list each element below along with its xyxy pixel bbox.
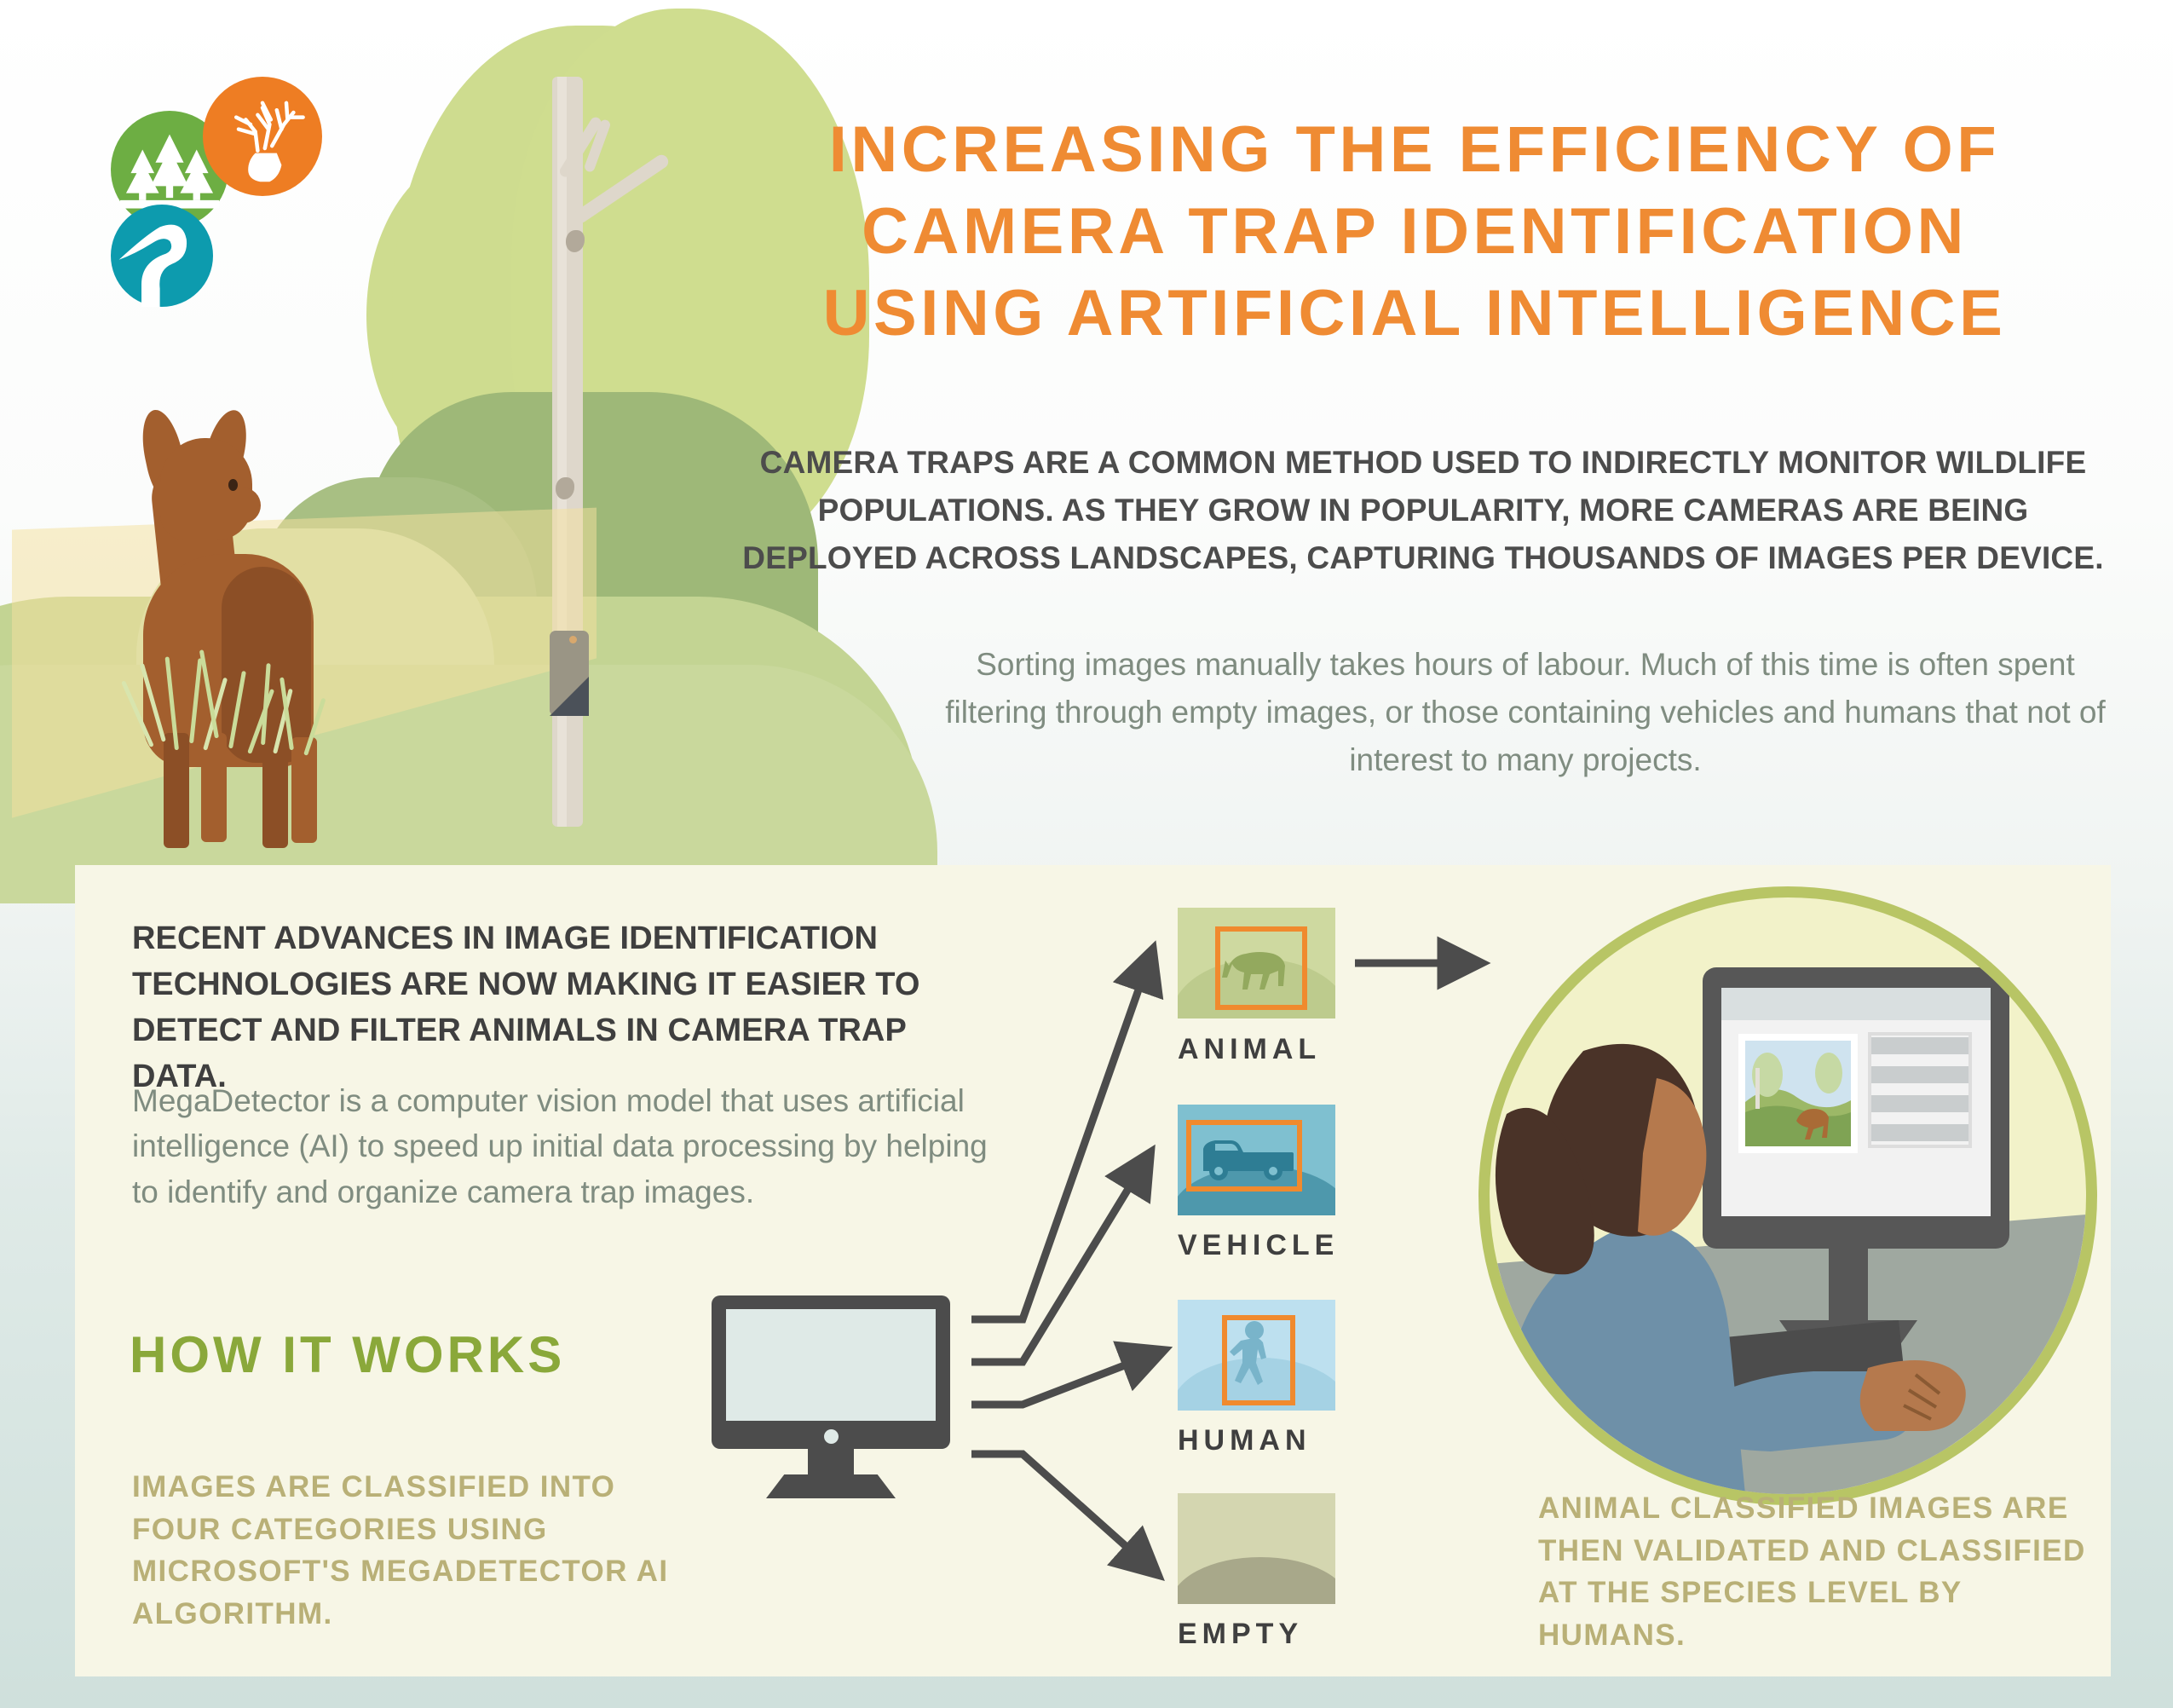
thumbnail-vehicle [1178,1105,1335,1215]
deer-antler-icon [203,77,322,196]
desktop-computer-icon [712,1295,950,1500]
intro-paragraph-light: Sorting images manually takes hours of l… [937,641,2113,785]
thumbnail-empty [1178,1493,1335,1604]
intro-paragraph-bold: CAMERA TRAPS ARE A COMMON METHOD USED TO… [733,439,2113,583]
page-title: INCREASING THE EFFICIENCY OF CAMERA TRAP… [716,109,2113,354]
thumbnail-animal [1178,908,1335,1018]
infographic-page: INCREASING THE EFFICIENCY OF CAMERA TRAP… [0,0,2173,1708]
deer-figure [119,409,358,810]
title-line-3: USING ARTIFICIAL INTELLIGENCE [716,273,2113,355]
title-line-2: CAMERA TRAP IDENTIFICATION [716,191,2113,273]
category-label-human: HUMAN [1178,1424,1311,1457]
heron-icon [111,205,213,307]
deer-leg-1 [164,733,189,848]
monitor-stand-base [766,1474,896,1498]
category-label-animal: ANIMAL [1178,1033,1321,1066]
category-label-vehicle: VEHICLE [1178,1229,1339,1262]
researcher-illustration [1490,897,2086,1494]
bounding-box-vehicle [1186,1120,1302,1192]
deer-leg-3 [262,737,288,848]
monitor-power-led [824,1429,839,1444]
deer-head-logo [203,77,322,196]
camera-lens-icon [569,636,577,643]
thumbnail-human [1178,1300,1335,1411]
deer-eye [228,479,238,491]
classification-note: IMAGES ARE CLASSIFIED INTO FOUR CATEGORI… [132,1466,712,1636]
deer-snout [222,488,261,523]
category-label-empty: EMPTY [1178,1618,1303,1651]
hand [1860,1360,1966,1431]
megadetector-description: MegaDetector is a computer vision model … [132,1078,993,1215]
bounding-box-animal [1215,926,1307,1010]
monitor-stand-neck [808,1449,854,1478]
camera-trap-device [550,631,589,716]
title-line-1: INCREASING THE EFFICIENCY OF [716,109,2113,191]
heron-bird-logo [111,205,213,307]
camera-shadow [550,677,589,716]
monitor-screen [726,1309,936,1421]
thumb-hill-empty [1178,1557,1335,1604]
researcher-at-computer-scene [1478,886,2097,1505]
how-it-works-heading: HOW IT WORKS [130,1325,565,1384]
organization-logos [111,77,366,315]
validation-caption: ANIMAL CLASSIFIED IMAGES ARE THEN VALIDA… [1538,1487,2092,1657]
bounding-box-human [1222,1315,1295,1405]
panel-lead-text: RECENT ADVANCES IN IMAGE IDENTIFICATION … [132,916,984,1100]
monitor-bezel [712,1295,950,1449]
